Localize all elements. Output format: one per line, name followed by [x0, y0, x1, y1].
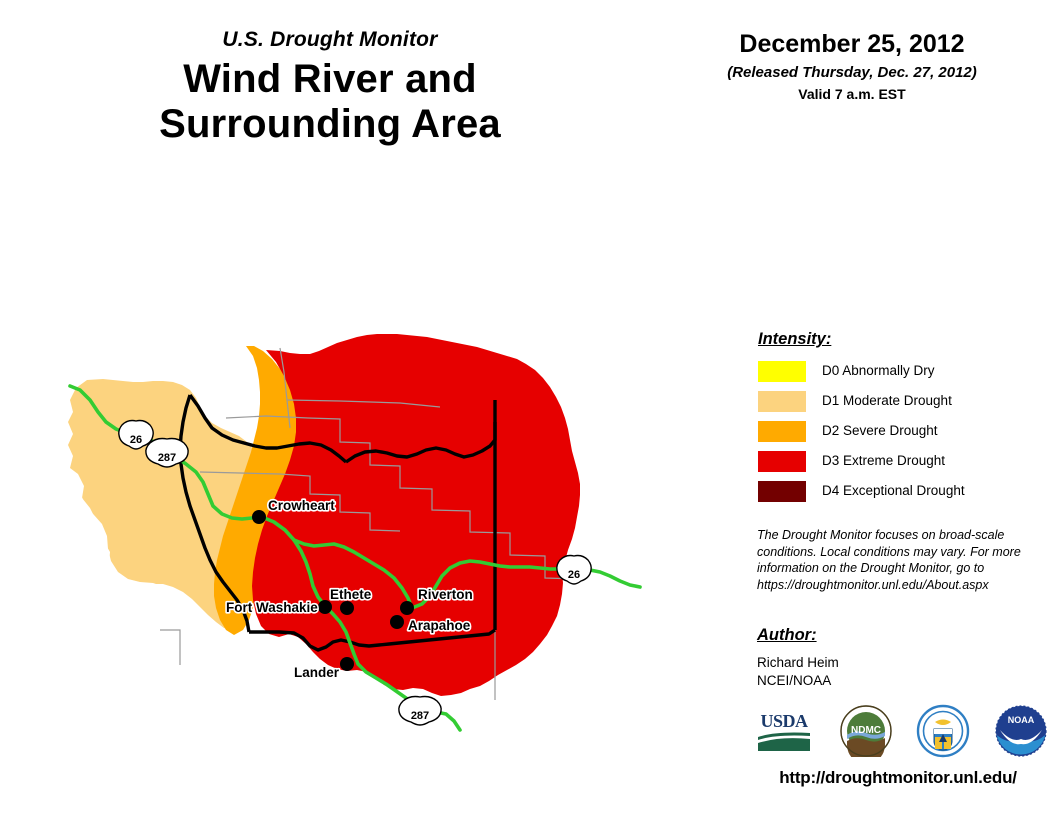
- route-shield-label: 26: [130, 434, 142, 446]
- legend-label-d0: D0 Abnormally Dry: [822, 364, 935, 378]
- disclaimer-text: The Drought Monitor focuses on broad-sca…: [757, 527, 1025, 593]
- author-name: Richard Heim: [757, 654, 1027, 672]
- city-label-fort-washakie: Fort Washakie: [226, 600, 318, 615]
- page-title-line2: Surrounding Area: [0, 102, 660, 147]
- legend-swatch-d0: [758, 361, 806, 382]
- disclaimer-line-1: The Drought Monitor focuses on broad-sca…: [757, 527, 1025, 544]
- svg-text:USDA: USDA: [760, 711, 808, 731]
- release-date: (Released Thursday, Dec. 27, 2012): [672, 64, 1032, 81]
- city-label-crowheart: Crowheart: [268, 498, 335, 513]
- legend-swatch-d4: [758, 481, 806, 502]
- svg-text:NOAA: NOAA: [1008, 715, 1035, 725]
- city-label-riverton: Riverton: [418, 587, 473, 602]
- footer-url[interactable]: http://droughtmonitor.unl.edu/: [748, 768, 1048, 788]
- legend-item-d0[interactable]: D0 Abnormally Dry: [758, 360, 1038, 382]
- route-shield-label: 26: [568, 569, 580, 581]
- noaa-logo[interactable]: NOAA: [994, 704, 1048, 758]
- legend-item-d4[interactable]: D4 Exceptional Drought: [758, 480, 1038, 502]
- title-block: U.S. Drought Monitor Wind River and Surr…: [0, 28, 660, 147]
- legend-swatch-d1: [758, 391, 806, 412]
- logo-row: USDA NDMC NOAA: [752, 700, 1048, 762]
- date-block: December 25, 2012 (Released Thursday, De…: [672, 30, 1032, 102]
- city-dot-riverton[interactable]: [400, 601, 414, 615]
- disclaimer-line-3: information on the Drought Monitor, go t…: [757, 560, 1025, 577]
- city-dot-lander[interactable]: [340, 657, 354, 671]
- legend-label-d3: D3 Extreme Drought: [822, 454, 945, 468]
- page-title-line1: Wind River and: [0, 57, 660, 102]
- unl-seal[interactable]: [916, 704, 970, 758]
- legend-item-d3[interactable]: D3 Extreme Drought: [758, 450, 1038, 472]
- city-dot-crowheart[interactable]: [252, 510, 266, 524]
- drought-map[interactable]: Crowheart Fort Washakie Ethete Riverton …: [40, 160, 720, 790]
- disclaimer-about-url[interactable]: https://droughtmonitor.unl.edu/About.asp…: [757, 577, 1025, 594]
- svg-text:NDMC: NDMC: [851, 725, 881, 736]
- legend-label-d4: D4 Exceptional Drought: [822, 484, 965, 498]
- legend-swatch-d2: [758, 421, 806, 442]
- author-block: Author: Richard Heim NCEI/NOAA: [757, 626, 1027, 690]
- legend-label-d2: D2 Severe Drought: [822, 424, 938, 438]
- legend: Intensity: D0 Abnormally Dry D1 Moderate…: [758, 330, 1038, 510]
- legend-item-d2[interactable]: D2 Severe Drought: [758, 420, 1038, 442]
- city-label-ethete: Ethete: [330, 587, 372, 602]
- route-shield-label: 287: [411, 710, 429, 722]
- usda-logo[interactable]: USDA: [752, 707, 816, 755]
- city-label-lander: Lander: [294, 665, 340, 680]
- city-dot-fort-washakie[interactable]: [318, 600, 332, 614]
- ndmc-logo[interactable]: NDMC: [840, 705, 892, 757]
- dm-program-name: U.S. Drought Monitor: [0, 28, 660, 51]
- author-heading: Author:: [757, 626, 1027, 645]
- legend-swatch-d3: [758, 451, 806, 472]
- legend-label-d1: D1 Moderate Drought: [822, 394, 952, 408]
- author-affiliation: NCEI/NOAA: [757, 672, 1027, 690]
- city-label-arapahoe: Arapahoe: [408, 618, 471, 633]
- valid-time: Valid 7 a.m. EST: [672, 86, 1032, 102]
- route-shield-label: 287: [158, 452, 176, 464]
- city-dot-ethete[interactable]: [340, 601, 354, 615]
- legend-heading: Intensity:: [758, 330, 1038, 349]
- city-dot-arapahoe[interactable]: [390, 615, 404, 629]
- disclaimer-line-2: conditions. Local conditions may vary. F…: [757, 544, 1025, 561]
- legend-item-d1[interactable]: D1 Moderate Drought: [758, 390, 1038, 412]
- page-title: Wind River and Surrounding Area: [0, 57, 660, 147]
- valid-date: December 25, 2012: [672, 30, 1032, 59]
